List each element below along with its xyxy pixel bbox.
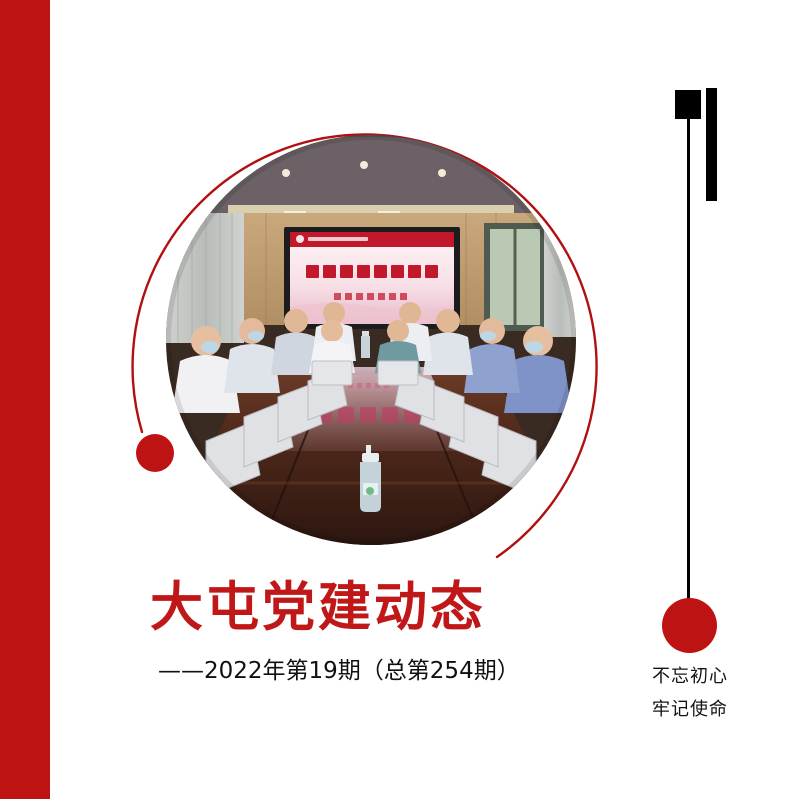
poster-canvas: 大屯党建动态 ——2022年第19期（总第254期） 不忘初心 牢记使命 bbox=[0, 0, 800, 799]
page-title: 大屯党建动态 bbox=[150, 578, 570, 637]
decorative-red-circle bbox=[662, 598, 717, 653]
headline-block: 大屯党建动态 ——2022年第19期（总第254期） bbox=[150, 578, 570, 685]
decorative-red-dot bbox=[136, 434, 174, 472]
meeting-photo-scene bbox=[166, 135, 576, 545]
slogan-block: 不忘初心 牢记使命 bbox=[620, 660, 760, 727]
left-red-band bbox=[0, 0, 50, 799]
decorative-black-bar bbox=[706, 88, 717, 201]
sanitizer-bottle bbox=[360, 445, 381, 512]
slogan-line-1: 不忘初心 bbox=[620, 660, 760, 693]
slogan-line-2: 牢记使命 bbox=[620, 693, 760, 726]
meeting-photo bbox=[166, 135, 576, 545]
decorative-black-stem bbox=[687, 118, 690, 603]
decorative-black-square bbox=[675, 90, 701, 119]
issue-line: ——2022年第19期（总第254期） bbox=[158, 651, 570, 685]
